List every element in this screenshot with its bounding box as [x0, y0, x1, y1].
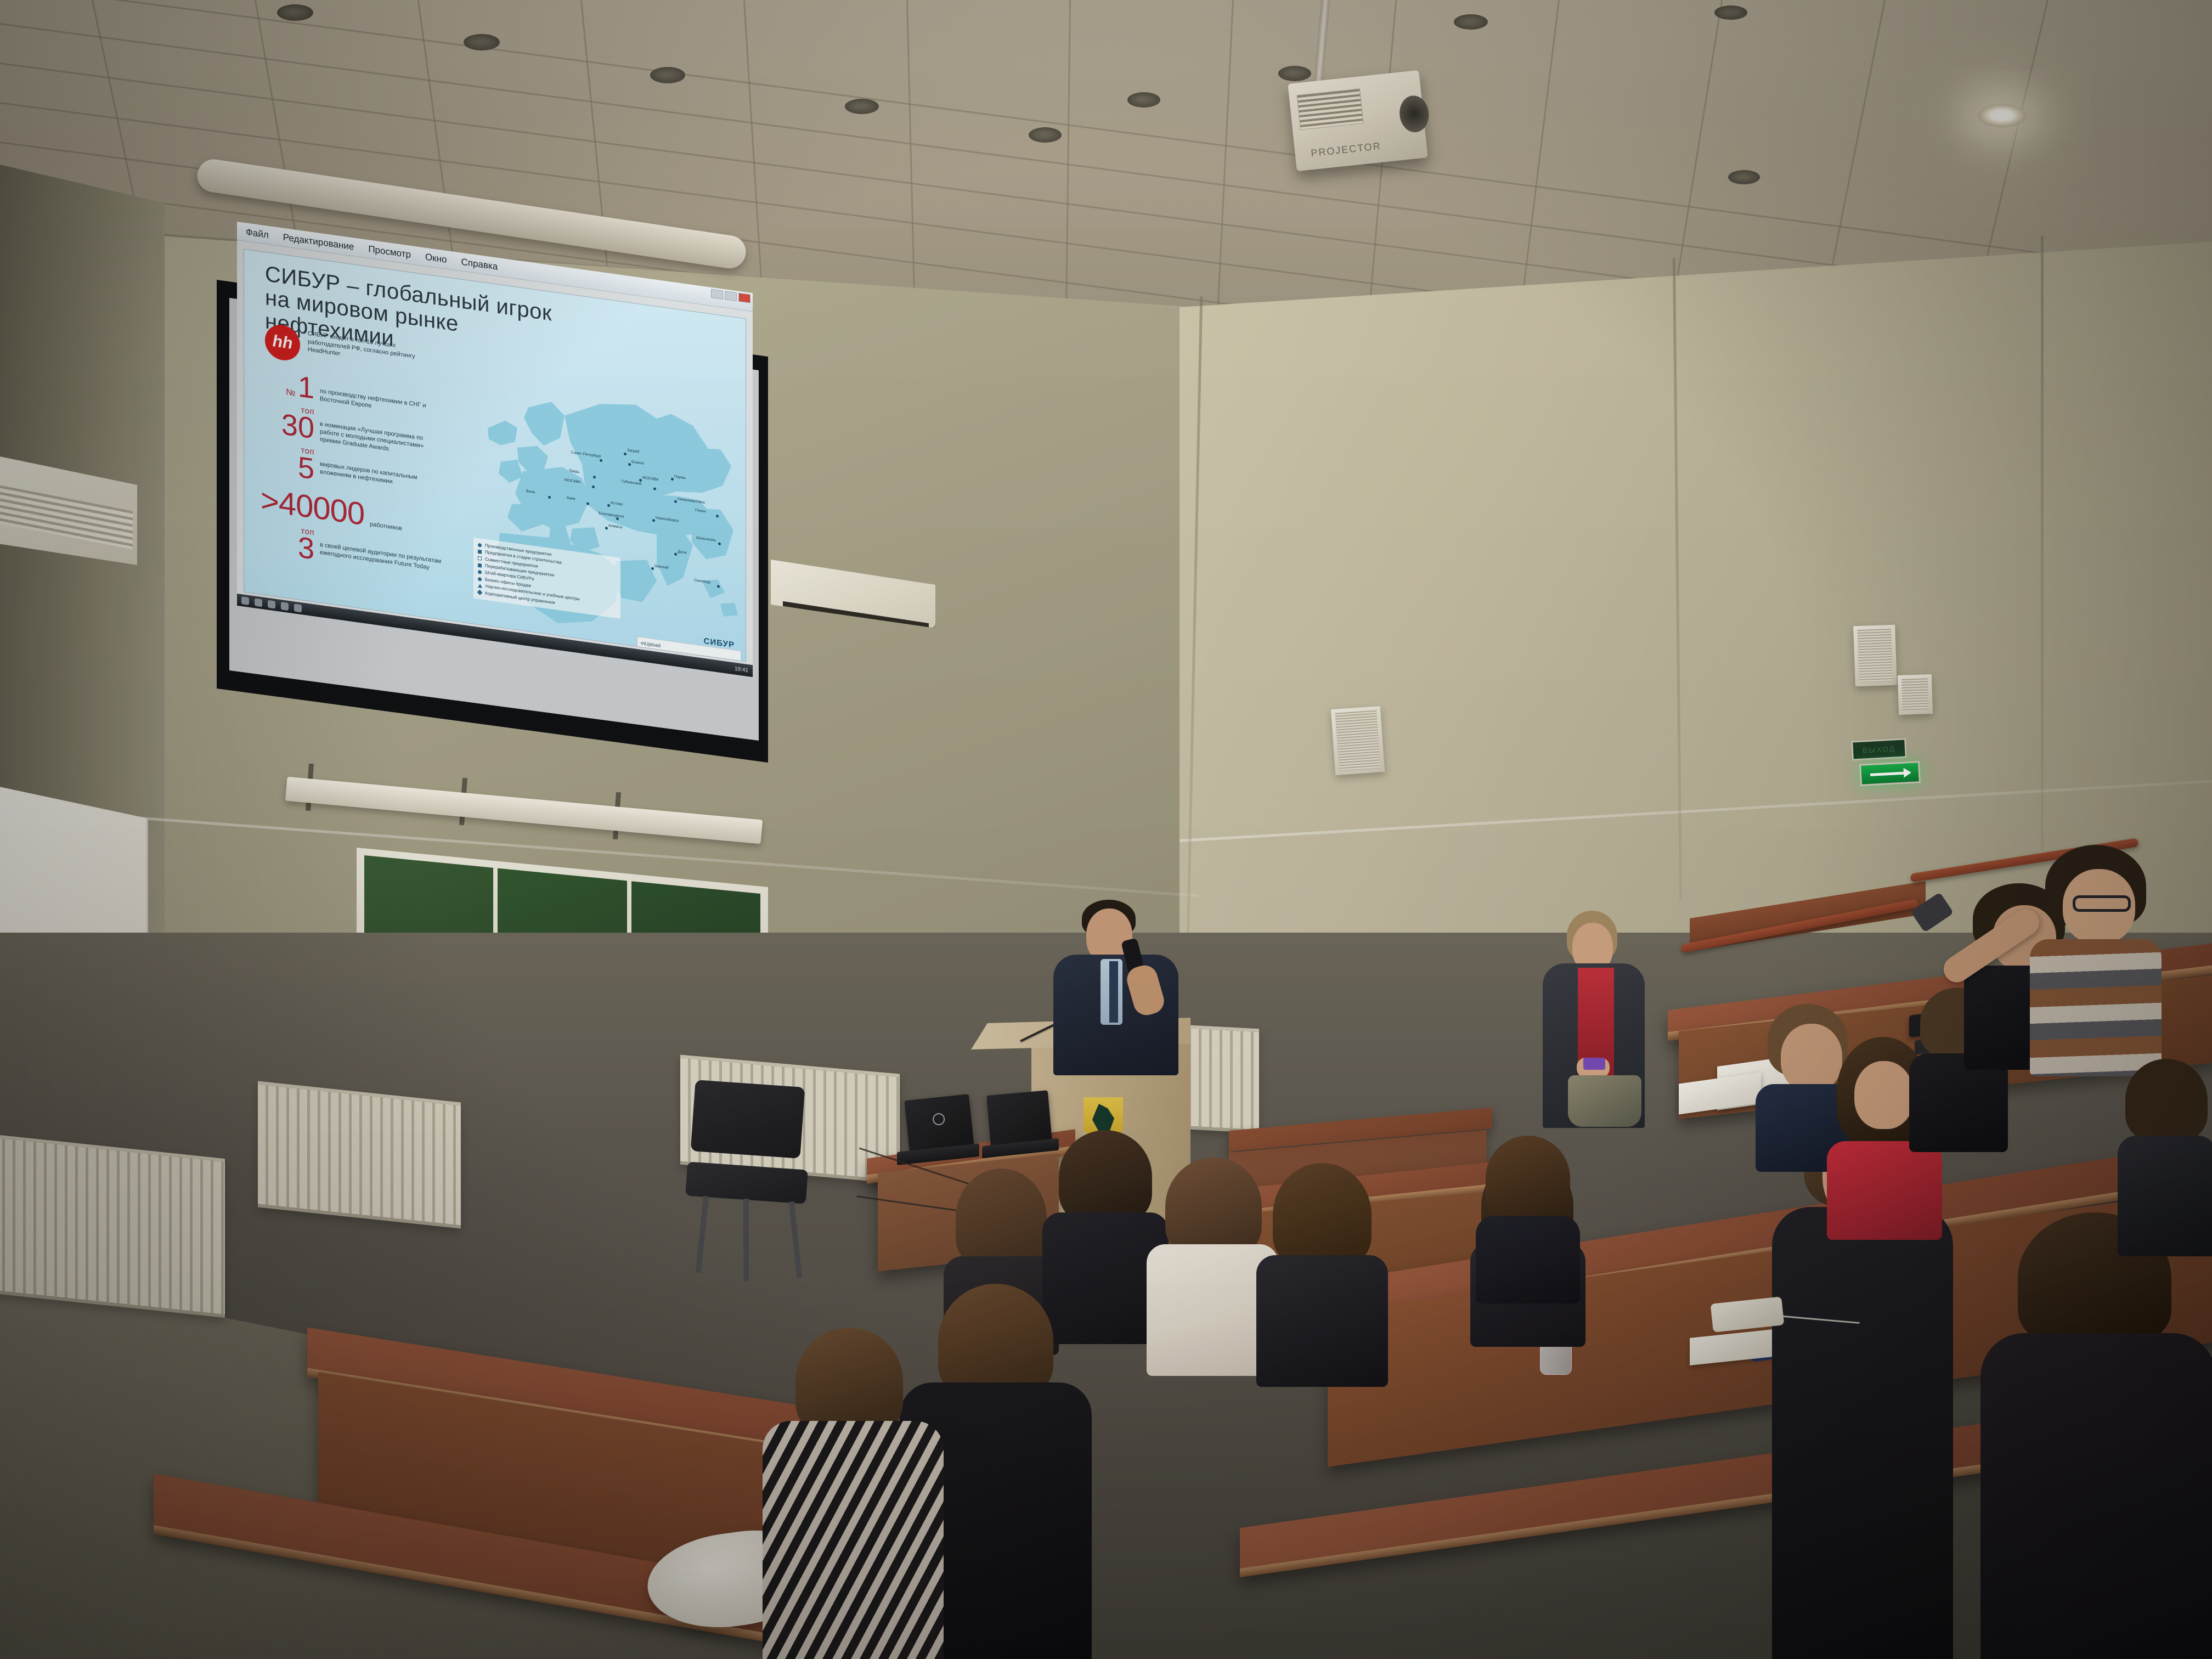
ceiling-downlight	[1029, 127, 1062, 143]
legend-marker-bar-icon	[478, 563, 482, 568]
legend-marker-square-icon	[478, 550, 482, 554]
maximize-button[interactable]	[725, 291, 737, 301]
wall-speaker	[1853, 625, 1897, 687]
presentation-window: Файл Редактирование Просмотр Окно Справк…	[237, 222, 753, 677]
projected-slide: Файл Редактирование Просмотр Окно Справк…	[237, 222, 753, 677]
taskbar-app-icon[interactable]	[281, 602, 289, 611]
ceiling-downlight	[1728, 170, 1760, 184]
taskbar-app-icon[interactable]	[241, 596, 249, 605]
taskbar-app-icon[interactable]	[294, 603, 302, 612]
staff-phone	[1583, 1058, 1605, 1070]
legend-marker-circle-icon	[478, 570, 482, 574]
student	[2118, 1059, 2212, 1256]
staff-member	[1536, 911, 1651, 1147]
stat-value: 1	[298, 373, 314, 403]
eyeglasses-icon	[2073, 895, 2131, 912]
staff-bag	[1568, 1075, 1641, 1127]
legend-marker-diamond-icon	[477, 590, 483, 595]
taskbar-app-icon[interactable]	[255, 598, 262, 607]
exit-sign	[1859, 761, 1921, 786]
close-icon[interactable]	[738, 293, 751, 303]
exit-sign-text: ВЫХОД	[1851, 738, 1907, 760]
presenter-tie	[1109, 961, 1118, 1023]
stat-value: 30	[261, 408, 314, 443]
minimize-button[interactable]	[711, 289, 723, 300]
taskbar-app-icon[interactable]	[268, 600, 275, 609]
dell-logo-icon	[932, 1113, 945, 1126]
ceiling-downlight	[650, 67, 685, 83]
legend-marker-circle-icon	[478, 577, 482, 581]
student	[1476, 1136, 1580, 1300]
legend-marker-triangle-icon	[478, 584, 482, 588]
slide-canvas: СИБУР – глобальный игрок на мировом рынк…	[244, 249, 746, 662]
menu-view[interactable]: Просмотр	[368, 244, 411, 261]
menu-window[interactable]: Окно	[425, 251, 447, 265]
student-foreground	[763, 1328, 944, 1659]
ceiling-downlight	[464, 34, 500, 50]
menu-file[interactable]: Файл	[246, 227, 269, 241]
laptop[interactable]	[897, 1097, 985, 1163]
ceiling-downlight	[1278, 66, 1311, 81]
wall-speaker	[1898, 674, 1933, 715]
wall-speaker	[1331, 706, 1385, 775]
student-glasses	[2030, 845, 2162, 1075]
legend-marker-hollow-icon	[478, 556, 482, 561]
chair[interactable]	[683, 1084, 815, 1276]
ceiling-downlight-lit	[1978, 104, 2026, 127]
headline-stat-caption: работников	[370, 521, 402, 532]
projector-vent	[1297, 89, 1363, 131]
legend-marker-circle-icon	[478, 543, 482, 547]
stat-prefix: №	[286, 388, 296, 398]
ceiling-downlight	[1714, 5, 1747, 20]
exit-arrow-icon	[1870, 771, 1910, 776]
ac-grill	[0, 485, 133, 549]
presenter	[1048, 900, 1185, 1064]
projector: PROJECTOR	[1288, 70, 1427, 171]
menu-help[interactable]: Справка	[461, 256, 498, 272]
student-back	[1256, 1163, 1388, 1383]
student-foreground-right	[1980, 1212, 2212, 1659]
taskbar-clock: 19:41	[735, 665, 748, 673]
ceiling-downlight	[1454, 14, 1488, 30]
radiator	[258, 1081, 461, 1229]
stat-value: 3	[261, 529, 314, 563]
ceiling-downlight	[277, 4, 313, 21]
wall-panel-seam	[2041, 236, 2044, 850]
lecture-hall-photo: PROJECTOR Файл Редактирование Просмотр О…	[0, 0, 2212, 1659]
ceiling-downlight	[1127, 92, 1160, 108]
stat-value: 5	[261, 449, 314, 483]
ceiling-downlight	[845, 99, 879, 114]
radiator	[0, 1135, 225, 1318]
projector-label: PROJECTOR	[1310, 140, 1381, 159]
slide-stats-list: № 1 по производству нефтехимии в СНГ и В…	[261, 368, 442, 587]
world-map-graphic: Санкт-Петербург Загреб Бланск Тверь МОСК…	[435, 329, 742, 657]
chair-back	[691, 1080, 805, 1159]
